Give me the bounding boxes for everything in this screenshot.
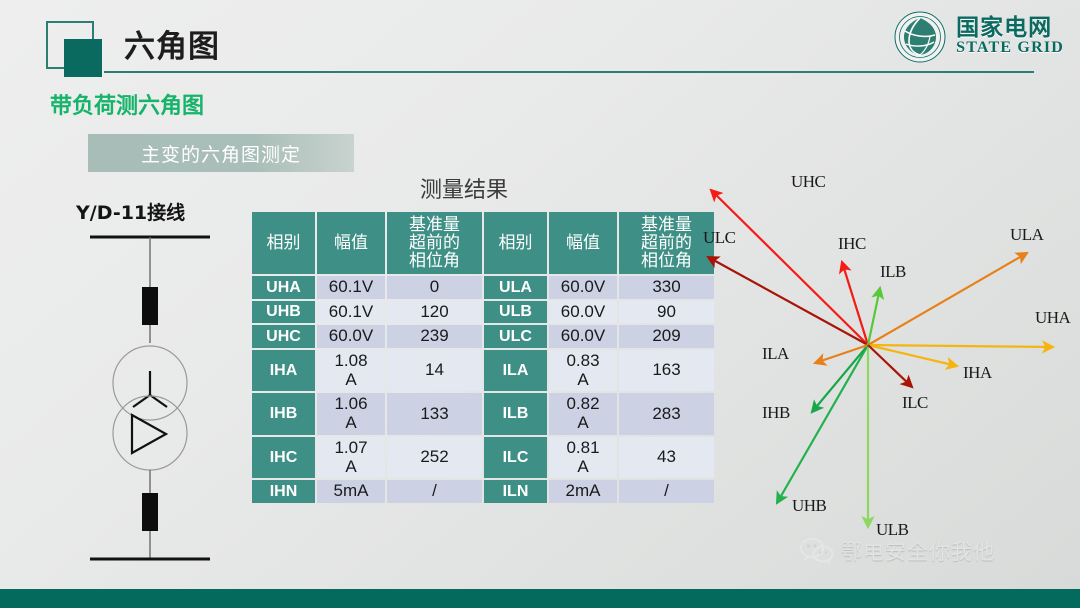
- table-cell-value: 0.82A: [549, 393, 617, 434]
- table-row: IHN5mA/ILN2mA/: [252, 480, 714, 503]
- phasor-label-ula: ULA: [1010, 225, 1043, 245]
- table-cell-phase: IHA: [252, 350, 315, 391]
- measurement-table: 相别 幅值 基准量 超前的 相位角 相别 幅值 基准量 超前的 相位角 UHA6…: [250, 210, 716, 505]
- phasor-label-ilb: ILB: [880, 262, 906, 282]
- table-header-row: 相别 幅值 基准量 超前的 相位角 相别 幅值 基准量 超前的 相位角: [252, 212, 714, 274]
- table-cell-value: /: [387, 480, 482, 503]
- table-header-cell: 幅值: [549, 212, 617, 274]
- phasor-label-iha: IHA: [963, 363, 992, 383]
- table-header-cell: 幅值: [317, 212, 385, 274]
- table-cell-value: 60.1V: [317, 301, 385, 324]
- table-cell-value: 60.0V: [549, 325, 617, 348]
- table-row: UHC60.0V239ULC60.0V209: [252, 325, 714, 348]
- table-cell-phase: ULB: [484, 301, 547, 324]
- table-cell-value: 60.0V: [549, 276, 617, 299]
- logo-text-cn: 国家电网: [956, 17, 1064, 40]
- header-divider: [104, 71, 1034, 73]
- page-title: 六角图: [124, 21, 220, 66]
- table-cell-value: 0: [387, 276, 482, 299]
- table-cell-phase: ULA: [484, 276, 547, 299]
- schematic-title: Y/D-11接线: [76, 198, 185, 225]
- breaker-lower-icon: [142, 493, 158, 531]
- table-row: IHB1.06A133ILB0.82A283: [252, 393, 714, 434]
- wechat-icon: [800, 538, 834, 564]
- table-caption: 测量结果: [420, 172, 508, 204]
- phasor-vectors: [680, 150, 1080, 560]
- table-cell-value: 133: [387, 393, 482, 434]
- table-cell-value: 60.1V: [317, 276, 385, 299]
- breaker-upper-icon: [142, 287, 158, 325]
- phasor-diagram: UHAUHBUHCULAULBULCIHAIHBIHCILAILBILC: [680, 150, 1080, 560]
- phasor-label-ulc: ULC: [703, 228, 736, 248]
- table-cell-value: 14: [387, 350, 482, 391]
- table-header-cell: 相别: [252, 212, 315, 274]
- table-cell-phase: ILN: [484, 480, 547, 503]
- phasor-vector-uha: [868, 345, 1053, 347]
- table-cell-value: 252: [387, 437, 482, 478]
- table-body: UHA60.1V0ULA60.0V330UHB60.1V120ULB60.0V9…: [252, 276, 714, 503]
- table-row: IHC1.07A252ILC0.81A43: [252, 437, 714, 478]
- table-cell-value: 0.83A: [549, 350, 617, 391]
- table-cell-value: 239: [387, 325, 482, 348]
- watermark-text: 鄂电安全你我他: [841, 536, 995, 566]
- section-band: 主变的六角图测定: [88, 134, 354, 172]
- table-cell-value: 1.07A: [317, 437, 385, 478]
- phasor-vector-uhb: [777, 345, 868, 503]
- table-cell-value: 0.81A: [549, 437, 617, 478]
- phasor-label-uha: UHA: [1035, 308, 1070, 328]
- table-cell-phase: ILA: [484, 350, 547, 391]
- table-cell-phase: IHN: [252, 480, 315, 503]
- table-row: UHA60.1V0ULA60.0V330: [252, 276, 714, 299]
- phasor-label-ihb: IHB: [762, 403, 790, 423]
- table-row: UHB60.1V120ULB60.0V90: [252, 301, 714, 324]
- table-cell-value: 60.0V: [317, 325, 385, 348]
- delta-winding-icon: [113, 396, 187, 470]
- phasor-label-ilc: ILC: [902, 393, 928, 413]
- slide-root: 六角图 国家电网 STATE GRID 带负荷测六角图 主变的六角图测定 Y/D…: [0, 0, 1080, 608]
- state-grid-globe-emblem-icon: [894, 11, 946, 63]
- phasor-label-ihc: IHC: [838, 234, 866, 254]
- phasor-label-ila: ILA: [762, 344, 789, 364]
- table-cell-phase: IHB: [252, 393, 315, 434]
- phasor-label-uhc: UHC: [791, 172, 825, 192]
- phasor-vector-ilb: [868, 288, 880, 345]
- table-cell-value: 120: [387, 301, 482, 324]
- table-header-cell: 相别: [484, 212, 547, 274]
- watermark: 鄂电安全你我他: [800, 536, 995, 566]
- phasor-label-uhb: UHB: [792, 496, 826, 516]
- table-cell-value: 2mA: [549, 480, 617, 503]
- phasor-vector-iha: [868, 345, 957, 366]
- table-cell-value: 1.06A: [317, 393, 385, 434]
- logo-text-en: STATE GRID: [956, 40, 1064, 57]
- table-cell-value: 5mA: [317, 480, 385, 503]
- section-subtitle: 带负荷测六角图: [50, 88, 204, 120]
- section-band-label: 主变的六角图测定: [141, 140, 301, 167]
- table-cell-phase: ILB: [484, 393, 547, 434]
- table-cell-phase: ULC: [484, 325, 547, 348]
- table-cell-phase: UHB: [252, 301, 315, 324]
- table-cell-value: 60.0V: [549, 301, 617, 324]
- table-cell-phase: UHA: [252, 276, 315, 299]
- footer-bar: [0, 589, 1080, 608]
- header-square-solid-icon: [64, 39, 102, 77]
- table-row: IHA1.08A14ILA0.83A163: [252, 350, 714, 391]
- table-cell-phase: UHC: [252, 325, 315, 348]
- table-cell-phase: ILC: [484, 437, 547, 478]
- state-grid-logo: 国家电网 STATE GRID: [894, 8, 1064, 66]
- transformer-schematic: [60, 225, 240, 575]
- table-cell-phase: IHC: [252, 437, 315, 478]
- table-cell-value: 1.08A: [317, 350, 385, 391]
- table-header-cell: 基准量 超前的 相位角: [387, 212, 482, 274]
